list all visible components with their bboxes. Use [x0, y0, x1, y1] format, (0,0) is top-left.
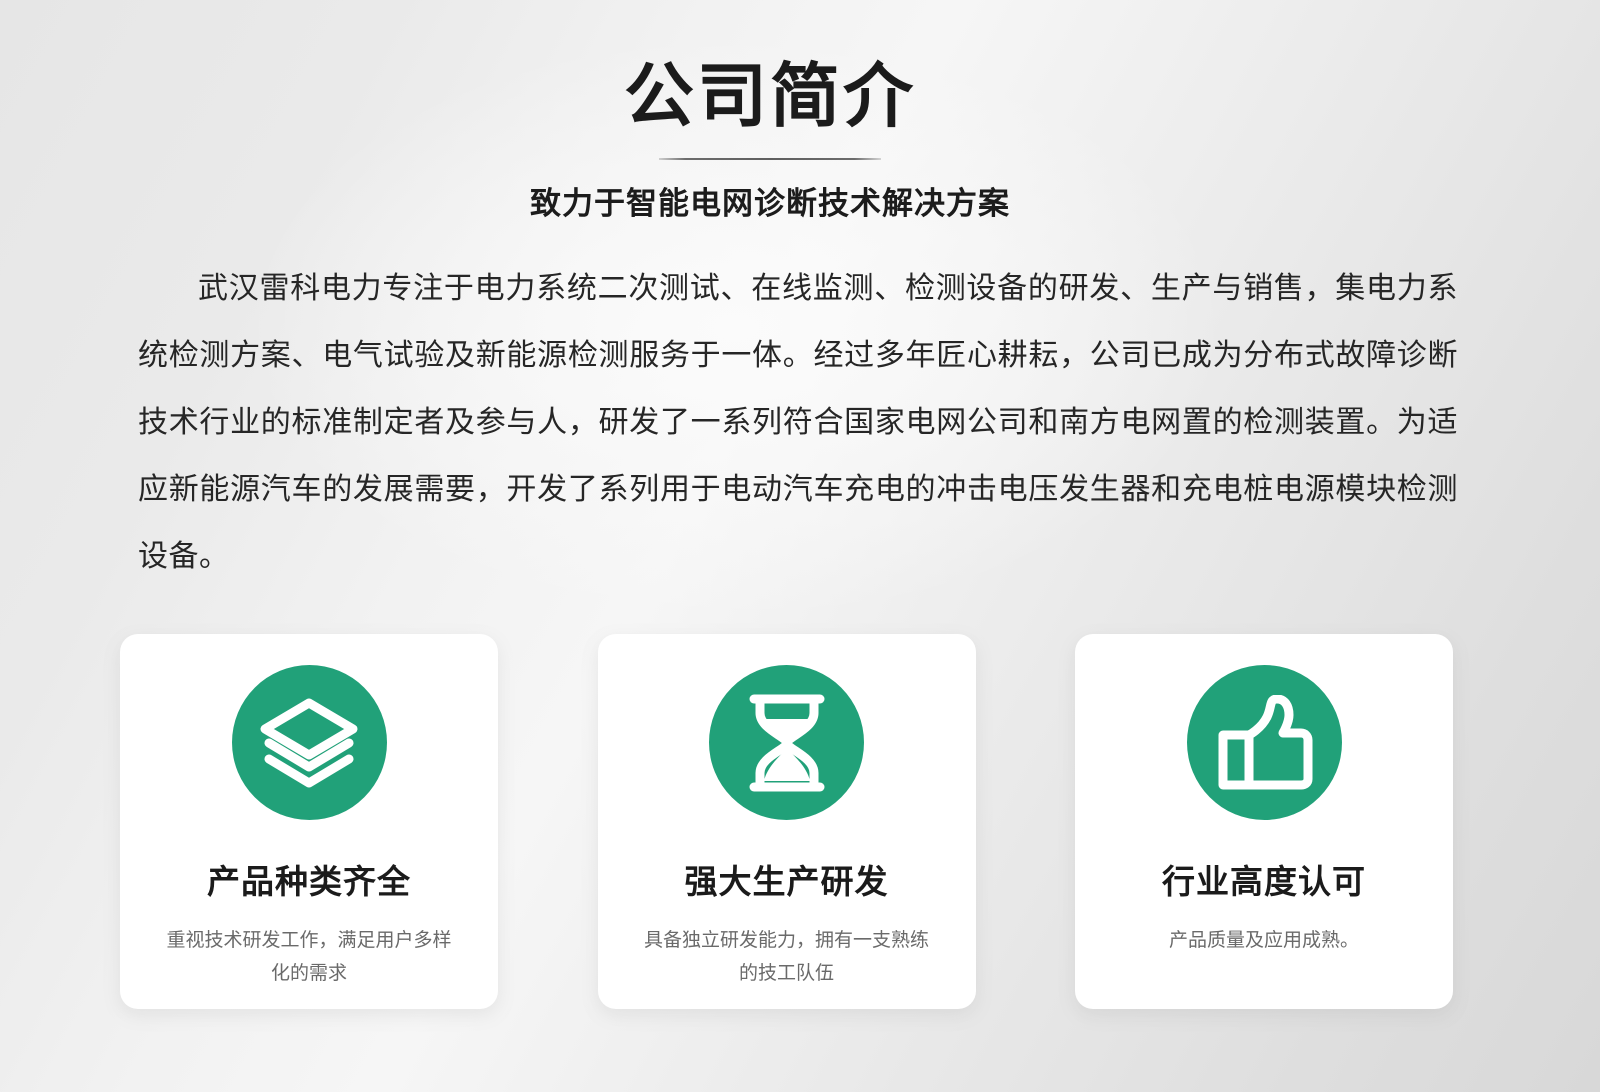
layers-icon [232, 665, 387, 820]
title-divider [659, 158, 881, 160]
feature-card-description: 重视技术研发工作，满足用户多样化的需求 [159, 924, 459, 990]
feature-card-description: 产品质量及应用成熟。 [1114, 924, 1414, 957]
page-title: 公司简介 [0, 48, 1540, 144]
feature-card-title: 强大生产研发 [685, 862, 889, 902]
page-subtitle: 致力于智能电网诊断技术解决方案 [0, 182, 1540, 226]
thumbs-up-icon [1187, 665, 1342, 820]
feature-card-description: 具备独立研发能力，拥有一支熟练的技工队伍 [637, 924, 937, 990]
feature-card[interactable]: 强大生产研发 具备独立研发能力，拥有一支熟练的技工队伍 [598, 634, 976, 1009]
feature-card-title: 行业高度认可 [1162, 862, 1366, 902]
feature-card-title: 产品种类齐全 [207, 862, 411, 902]
company-intro-paragraph: 武汉雷科电力专注于电力系统二次测试、在线监测、检测设备的研发、生产与销售，集电力… [138, 255, 1458, 590]
feature-card-list: 产品种类齐全 重视技术研发工作，满足用户多样化的需求 强大生产研发 具备独立 [120, 634, 1453, 1009]
feature-card[interactable]: 行业高度认可 产品质量及应用成熟。 [1075, 634, 1453, 1009]
page-root: 公司简介 致力于智能电网诊断技术解决方案 武汉雷科电力专注于电力系统二次测试、在… [0, 0, 1600, 1092]
hourglass-icon [709, 665, 864, 820]
page-header: 公司简介 致力于智能电网诊断技术解决方案 [0, 0, 1540, 226]
feature-card[interactable]: 产品种类齐全 重视技术研发工作，满足用户多样化的需求 [120, 634, 498, 1009]
